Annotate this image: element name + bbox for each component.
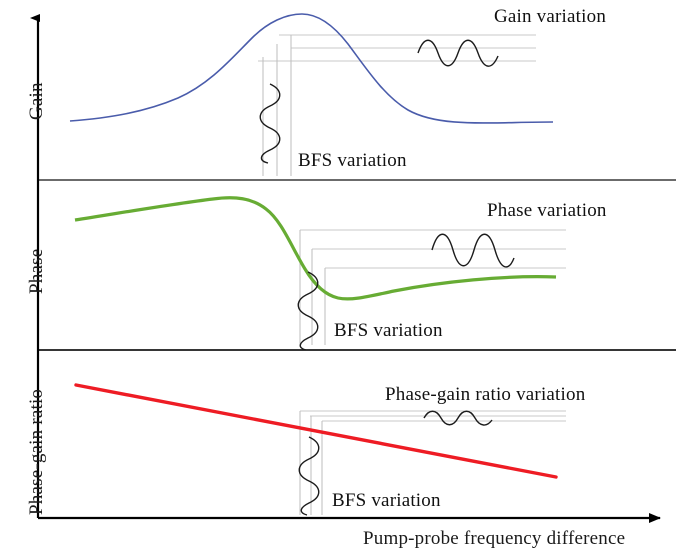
ratio-variation-label: Phase-gain ratio variation: [385, 384, 585, 406]
diagram-svg: [0, 0, 676, 557]
gain-variation-oscillation-icon: [418, 40, 498, 66]
gain-variation-gridlines: [258, 35, 536, 61]
gain-curve: [70, 14, 553, 123]
y-axis-label-gain: Gain: [26, 82, 48, 120]
y-axis-label-phase: Phase: [26, 249, 48, 294]
bfs-variation-label-ratio: BFS variation: [332, 490, 441, 512]
ratio-bfs-oscillation-icon: [299, 437, 319, 515]
figure-canvas: Gain Phase Phase-gain ratio Pump-probe f…: [0, 0, 676, 557]
phase-variation-oscillation-icon: [432, 234, 514, 267]
y-axis-label-phase-gain-ratio: Phase-gain ratio: [26, 389, 48, 515]
phase-curve: [75, 198, 556, 299]
gain-bfs-band-lines: [263, 35, 291, 176]
ratio-variation-gridlines: [300, 411, 566, 421]
bfs-variation-label-gain: BFS variation: [298, 150, 407, 172]
ratio-variation-oscillation-icon: [424, 411, 492, 425]
x-axis-label: Pump-probe frequency difference: [363, 528, 625, 550]
bfs-variation-label-phase: BFS variation: [334, 320, 443, 342]
gain-variation-label: Gain variation: [494, 6, 606, 28]
phase-variation-label: Phase variation: [487, 200, 607, 222]
